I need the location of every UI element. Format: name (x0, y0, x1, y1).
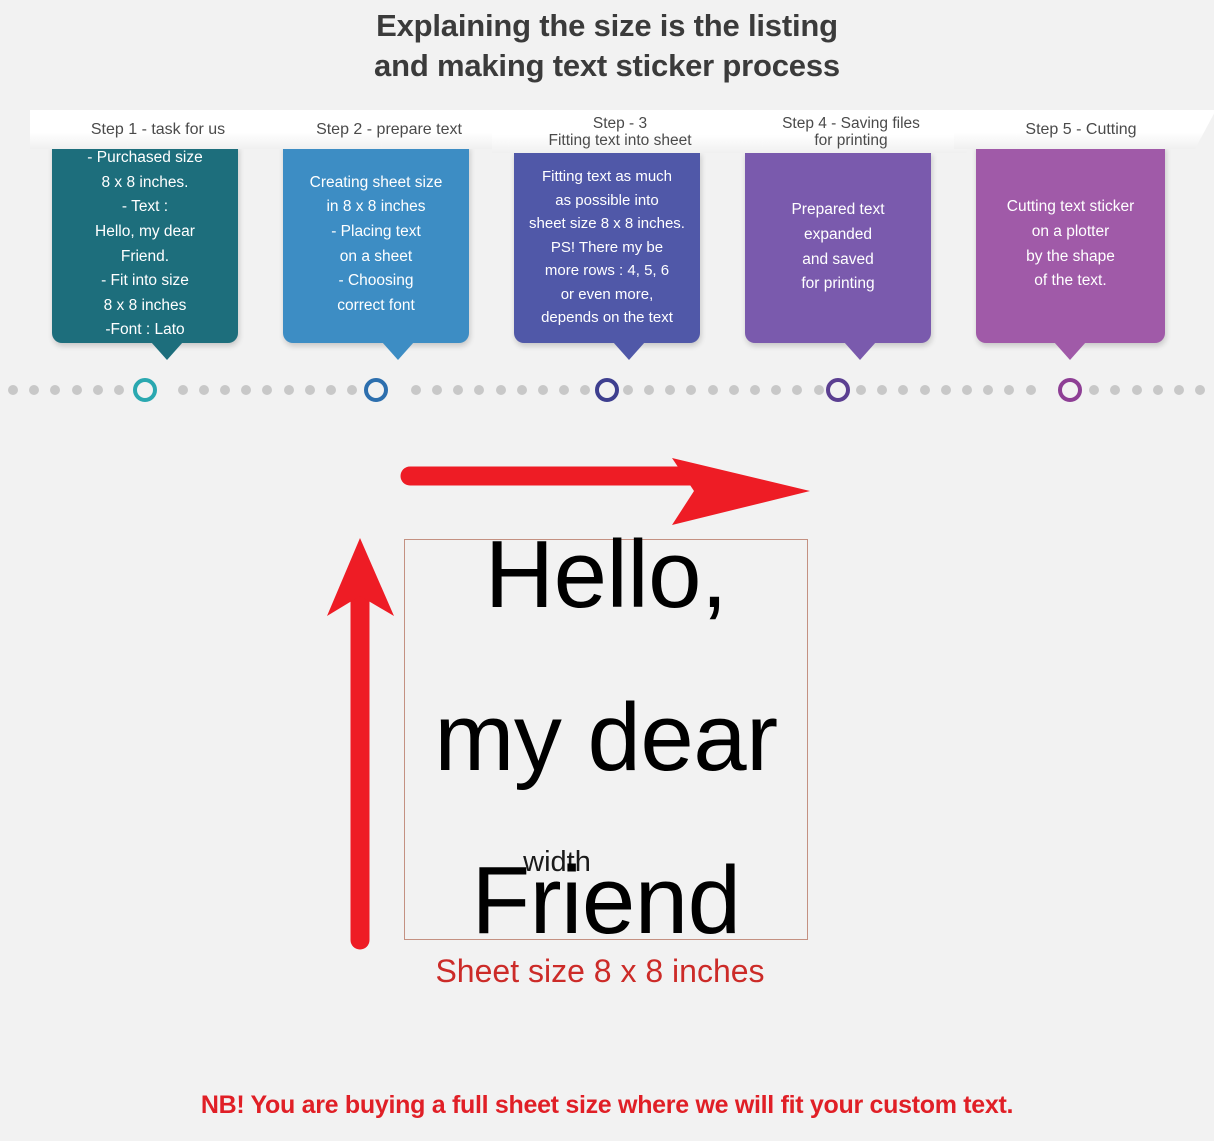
timeline-dot (792, 385, 802, 395)
timeline-dot (1004, 385, 1014, 395)
step-body-text-1: - Purchased size 8 x 8 inches. - Text : … (82, 146, 207, 343)
timeline-dot (920, 385, 930, 395)
timeline-dot (326, 385, 336, 395)
step-card-body-2: Creating sheet size in 8 x 8 inches - Pl… (283, 146, 469, 343)
timeline-dot (29, 385, 39, 395)
timeline-dot (453, 385, 463, 395)
timeline-dot (347, 385, 357, 395)
timeline-dot (708, 385, 718, 395)
timeline-track (0, 378, 1214, 402)
height-arrow (327, 538, 394, 940)
timeline-dot (1195, 385, 1205, 395)
timeline-dot (1026, 385, 1036, 395)
step-body-text-2: Creating sheet size in 8 x 8 inches - Pl… (305, 171, 448, 319)
timeline-step-marker-5[interactable] (1058, 378, 1082, 402)
step-ribbon-2: Step 2 - prepare text (261, 110, 525, 149)
timeline-dot (729, 385, 739, 395)
step-card-body-5: Cutting text sticker on a plotter by the… (976, 146, 1165, 343)
timeline-dot (72, 385, 82, 395)
step-ribbon-label-3: Step - 3 Fitting text into sheet (505, 115, 735, 149)
step-card-5[interactable]: Cutting text sticker on a plotter by the… (976, 110, 1206, 370)
timeline-dot (856, 385, 866, 395)
title-line-2: and making text sticker process (0, 46, 1214, 86)
sheet-boundary-box (404, 539, 808, 940)
sheet-size-caption: Sheet size 8 x 8 inches (330, 952, 870, 990)
step-card-4[interactable]: Prepared text expanded and saved for pri… (745, 110, 975, 370)
step-card-2[interactable]: Creating sheet size in 8 x 8 inches - Pl… (283, 110, 513, 370)
timeline-dot (1110, 385, 1120, 395)
timeline-dot (623, 385, 633, 395)
timeline-dot (941, 385, 951, 395)
timeline-dot (771, 385, 781, 395)
timeline-dot (305, 385, 315, 395)
step-ribbon-label-4: Step 4 - Saving files for printing (736, 115, 966, 149)
step-card-tail-5 (1054, 342, 1086, 360)
timeline-dot (114, 385, 124, 395)
timeline-dot (877, 385, 887, 395)
timeline-dot (432, 385, 442, 395)
timeline-dot (962, 385, 972, 395)
step-ribbon-3: Step - 3 Fitting text into sheet (492, 110, 756, 153)
step-body-text-4: Prepared text expanded and saved for pri… (786, 198, 889, 296)
timeline-dot (474, 385, 484, 395)
timeline-dot (220, 385, 230, 395)
step-ribbon-label-5: Step 5 - Cutting (966, 121, 1196, 139)
step-ribbon-label-2: Step 2 - prepare text (274, 121, 504, 139)
timeline-dot (199, 385, 209, 395)
steps-row: - Purchased size 8 x 8 inches. - Text : … (0, 110, 1214, 370)
timeline-dot (898, 385, 908, 395)
page-title: Explaining the size is the listing and m… (0, 6, 1214, 86)
step-card-tail-3 (613, 342, 645, 360)
timeline-dot (538, 385, 548, 395)
step-body-text-5: Cutting text sticker on a plotter by the… (1002, 195, 1140, 293)
step-card-3[interactable]: Fitting text as much as possible into sh… (514, 110, 744, 370)
width-arrow (410, 458, 810, 525)
timeline-dot (644, 385, 654, 395)
step-card-body-4: Prepared text expanded and saved for pri… (745, 152, 931, 343)
timeline-dot (1153, 385, 1163, 395)
timeline-dot (814, 385, 824, 395)
timeline-dot (284, 385, 294, 395)
step-card-1[interactable]: - Purchased size 8 x 8 inches. - Text : … (52, 110, 282, 370)
timeline-step-marker-3[interactable] (595, 378, 619, 402)
step-body-text-3: Fitting text as much as possible into sh… (524, 165, 690, 330)
timeline-dot (580, 385, 590, 395)
timeline-dot (496, 385, 506, 395)
timeline-dot (411, 385, 421, 395)
step-ribbon-4: Step 4 - Saving files for printing (723, 110, 987, 153)
step-card-body-1: - Purchased size 8 x 8 inches. - Text : … (52, 146, 238, 343)
step-card-body-3: Fitting text as much as possible into sh… (514, 152, 700, 343)
timeline-dot (241, 385, 251, 395)
timeline-dot (8, 385, 18, 395)
timeline-dot (665, 385, 675, 395)
timeline-step-marker-4[interactable] (826, 378, 850, 402)
timeline-step-marker-1[interactable] (133, 378, 157, 402)
timeline-dot (1089, 385, 1099, 395)
step-card-tail-2 (382, 342, 414, 360)
timeline-dot (1132, 385, 1142, 395)
footer-note: NB! You are buying a full sheet size whe… (0, 1089, 1214, 1121)
timeline-dot (178, 385, 188, 395)
timeline-dot (559, 385, 569, 395)
step-card-tail-4 (844, 342, 876, 360)
timeline-dot (1174, 385, 1184, 395)
step-ribbon-1: Step 1 - task for us (30, 110, 294, 149)
timeline-dot (750, 385, 760, 395)
timeline-dot (686, 385, 696, 395)
infographic-canvas: Explaining the size is the listing and m… (0, 0, 1214, 1141)
timeline-dot (262, 385, 272, 395)
title-line-1: Explaining the size is the listing (376, 8, 838, 43)
step-ribbon-5: Step 5 - Cutting (954, 110, 1214, 149)
timeline-dot (517, 385, 527, 395)
timeline-step-marker-2[interactable] (364, 378, 388, 402)
step-card-tail-1 (151, 342, 183, 360)
timeline-dot (93, 385, 103, 395)
step-ribbon-label-1: Step 1 - task for us (43, 121, 273, 139)
timeline-dot (983, 385, 993, 395)
timeline-dot (50, 385, 60, 395)
